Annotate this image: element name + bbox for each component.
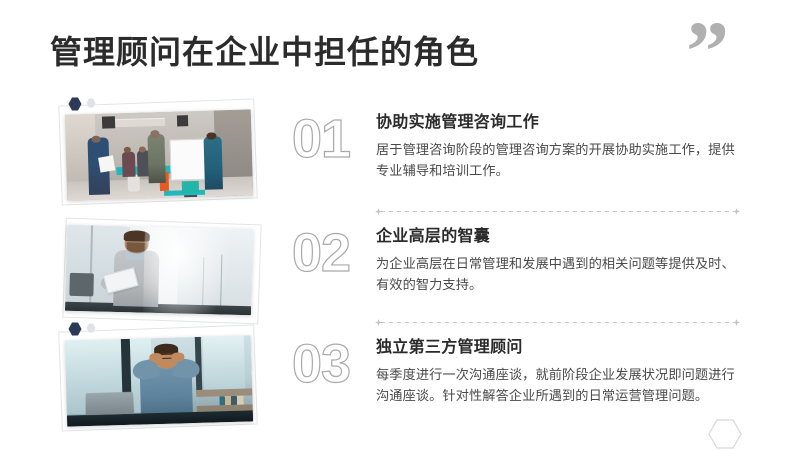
slide-canvas: 管理顾问在企业中担任的角色 ”	[0, 0, 800, 450]
divider-1	[375, 207, 740, 216]
hexagon-outline-icon	[708, 419, 742, 449]
quote-mark-icon: ”	[686, 8, 727, 94]
item-body: 每季度进行一次沟通座谈，就前阶段企业发展状况即问题进行沟通座谈。针对性解答企业所…	[376, 364, 740, 406]
item-text-block: 协助实施管理咨询工作 居于管理咨询阶段的管理咨询方案的开展协助实施工作，提供专业…	[376, 112, 740, 181]
page-title: 管理顾问在企业中担任的角色	[50, 31, 479, 73]
photo-block-1	[56, 104, 256, 204]
man-with-tablet-photo	[65, 225, 253, 316]
item-number-badge: 03	[292, 337, 378, 397]
item-number: 01	[292, 112, 378, 166]
divider-dot-icon	[733, 208, 740, 215]
divider-line	[381, 211, 734, 212]
item-title: 独立第三方管理顾问	[376, 337, 740, 359]
item-number: 02	[292, 226, 378, 280]
photo-block-2	[56, 219, 256, 319]
item-text-block: 独立第三方管理顾问 每季度进行一次沟通座谈，就前阶段企业发展状况即问题进行沟通座…	[376, 337, 740, 406]
man-relaxing-photo	[65, 335, 253, 426]
item-text-block: 企业高层的智囊 为企业高层在日常管理和发展中遇到的相关问题等提供及时、有效的智力…	[376, 226, 740, 295]
divider-line	[381, 322, 734, 323]
item-title: 企业高层的智囊	[376, 226, 740, 248]
item-number-badge: 02	[292, 226, 378, 286]
divider-2	[375, 318, 740, 327]
team-meeting-photo	[65, 109, 253, 200]
item-body: 居于管理咨询阶段的管理咨询方案的开展协助实施工作，提供专业辅导和培训工作。	[376, 139, 740, 181]
item-title: 协助实施管理咨询工作	[376, 112, 740, 134]
divider-dot-icon	[733, 319, 740, 326]
item-number-badge: 01	[292, 112, 378, 172]
photo-block-3	[56, 330, 256, 430]
item-body: 为企业高层在日常管理和发展中遇到的相关问题等提供及时、有效的智力支持。	[376, 253, 740, 295]
item-number: 03	[292, 337, 378, 391]
